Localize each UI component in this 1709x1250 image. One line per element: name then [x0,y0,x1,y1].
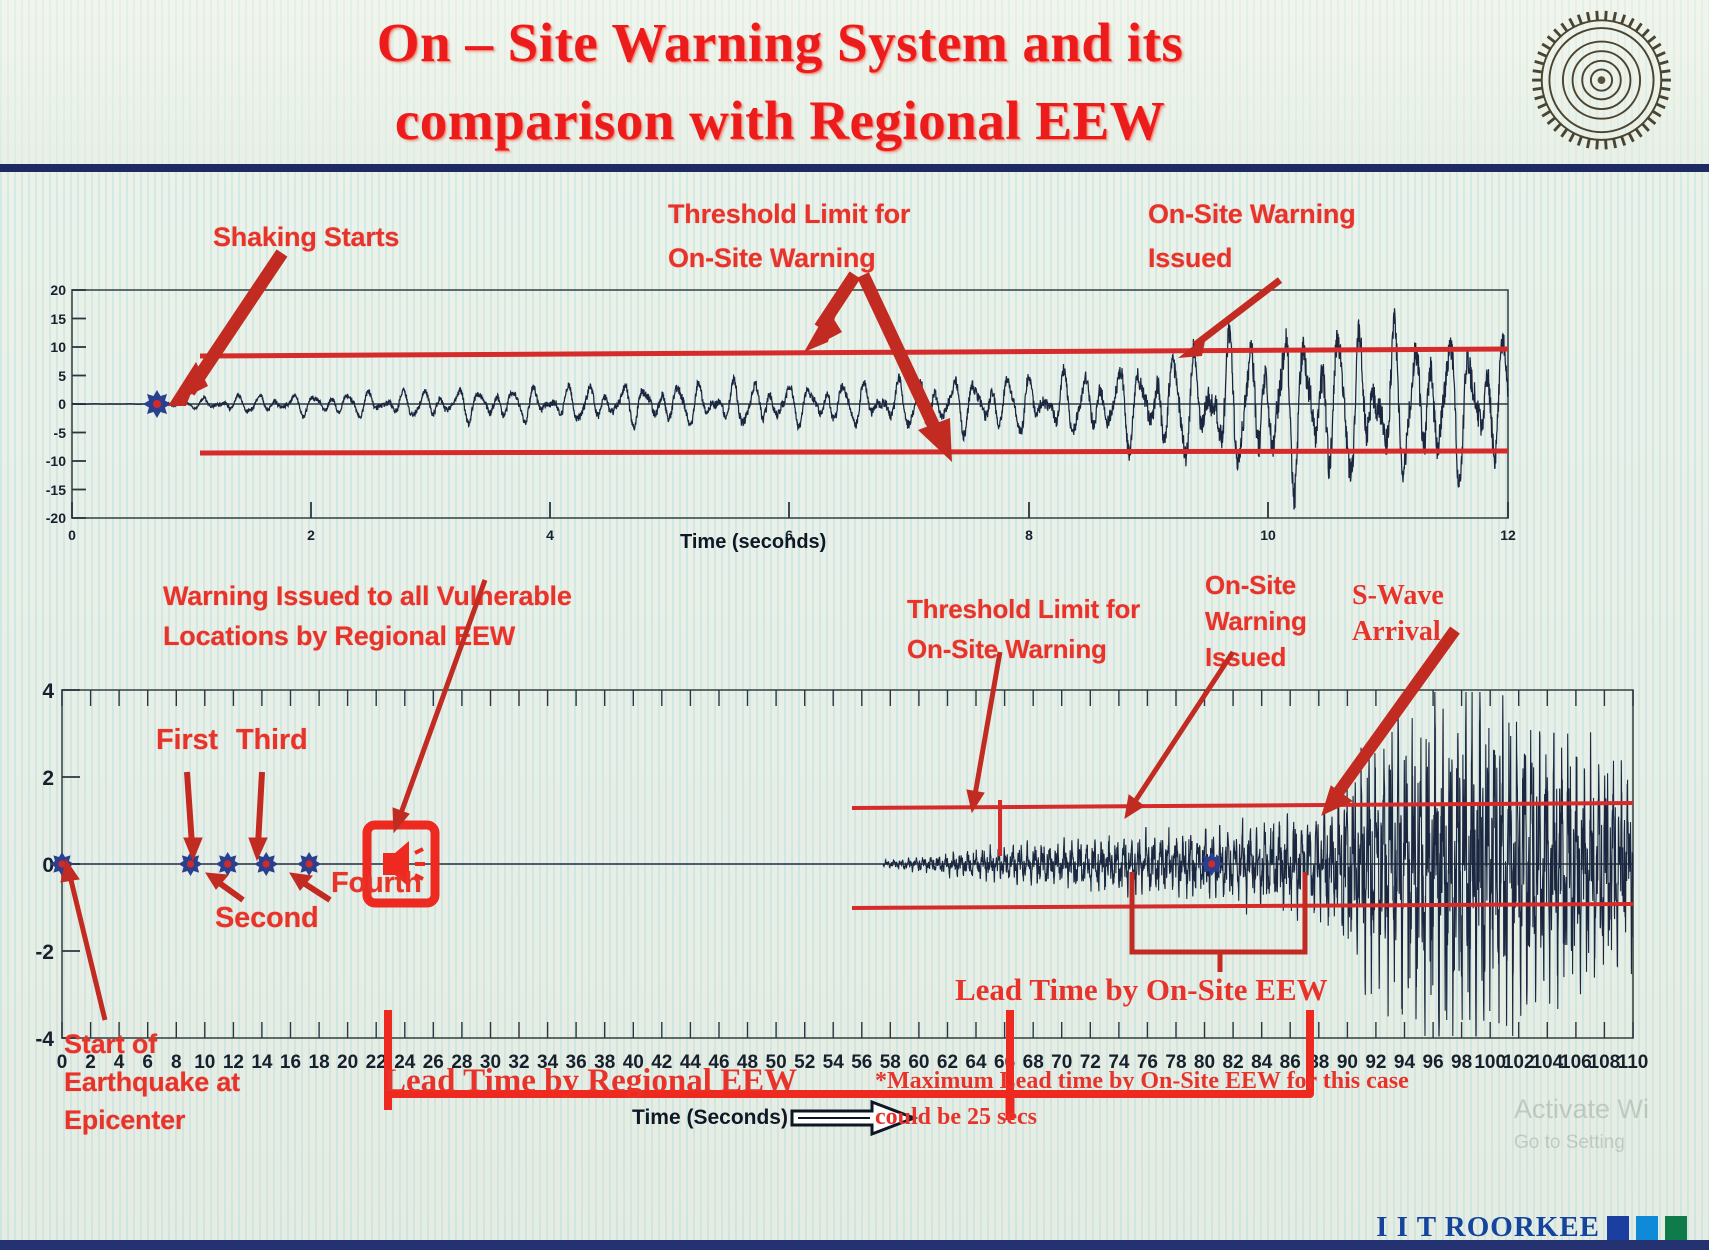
chart2-fourth-arrow [290,873,330,900]
chart2-xtick: 18 [309,1052,330,1073]
chart1-ytick: 5 [58,368,66,384]
page-title-line2: comparison with Regional EEW [170,82,1390,160]
chart2-ytick: 2 [42,767,54,790]
chart2-ytick: -4 [35,1028,54,1051]
chart2-fourth-station-marker [297,852,321,876]
chart2-onsite-trigger-marker [1200,852,1224,876]
chart1-acceleration-trace [72,308,1508,509]
chart1-xtick: 0 [68,527,76,543]
chart2-third-label: Third [236,725,308,755]
chart1-xtick: 2 [307,527,315,543]
slide-canvas: On – Site Warning System and its compari… [0,0,1709,1250]
chart2-xtick: 20 [337,1052,358,1073]
chart2-first-station-marker [179,852,203,876]
chart1-xtick: 10 [1260,527,1276,543]
chart1-xtick: 8 [1025,527,1033,543]
windows-activation-watermark: Activate Wi Go to Setting [1514,1092,1649,1160]
chart2-xtick: 108 [1589,1052,1621,1073]
chart2-lead-time-onsite-label: Lead Time by On-Site EEW [955,972,1328,1007]
chart1-lower-threshold [200,451,1508,453]
chart2-lead-time-regional-label: Lead Time by Regional EEW [384,1063,797,1100]
chart1-shaking-starts-arrow [168,253,282,406]
chart2-xtick: 96 [1423,1052,1444,1073]
chart1-ytick: -10 [46,453,66,469]
chart1-xticks [72,502,1508,518]
chart2-regional-warning-label: Warning Issued to all Vulnerable Locatio… [163,576,572,656]
chart1-threshold-limit-arrow [804,275,855,352]
chart2-threshold-limit-arrow [967,652,1000,812]
chart2-fourth-label: Fourth [331,868,422,898]
chart1-ytick: -5 [54,425,67,441]
chart1-ytick: 20 [50,282,66,298]
chart2-onsite-warning-arrow [1125,652,1233,818]
chart2-first-arrow [184,772,202,860]
chart1-ytick: 0 [58,396,66,412]
chart1-ytick: 15 [50,311,66,327]
chart2-lead-time-onsite-bracket [1132,872,1305,972]
chart1-shaking-start-marker [143,390,171,418]
chart1-ytick: 10 [50,339,66,355]
chart2-threshold-limit-label: Threshold Limit for On-Site Warning [907,589,1140,669]
brand-square-2 [1636,1216,1658,1240]
chart2-second-arrow [206,873,243,900]
chart2-epicenter-arrow [61,860,105,1020]
chart1-xtick: 12 [1500,527,1516,543]
iit-roorkee-seal-icon [1534,8,1669,158]
chart1-ytick: -20 [46,510,66,526]
chart2-xtick: 14 [251,1052,273,1073]
chart2-ytick: 4 [42,680,54,703]
bottom-strip [0,1240,1709,1250]
chart2-xtick: 16 [280,1052,301,1073]
chart2-xtick: 102 [1503,1052,1535,1073]
chart2-second-station-marker [216,852,240,876]
chart-onsite-record: 20 15 10 5 0 -5 -10 -15 -20 0 2 4 6 [0,180,1560,560]
watermark-line2: Go to Setting [1514,1126,1649,1160]
page-title: On – Site Warning System and its compari… [170,4,1390,160]
chart2-onsite-warning-label: On-Site Warning Issued [1205,567,1307,675]
chart2-first-label: First [156,725,218,755]
brand-square-1 [1607,1216,1629,1240]
brand-square-3 [1665,1216,1687,1240]
chart2-second-label: Second [215,903,319,933]
chart2-xtick: 106 [1560,1052,1592,1073]
chart2-ytick: 0 [42,854,54,877]
chart2-footnote: *Maximum Lead time by On-Site EEW for th… [875,1063,1409,1135]
chart1-upper-threshold [200,349,1508,356]
chart1-ytick: -15 [46,482,66,498]
chart2-xtick: 98 [1451,1052,1472,1073]
chart1-warning-issued-arrow [1178,280,1280,358]
chart1-x-title: Time (seconds) [680,531,826,554]
title-banner: On – Site Warning System and its compari… [0,0,1709,172]
chart2-xtick: 110 [1618,1052,1649,1073]
chart2-ytick: -2 [35,941,54,964]
chart1-threshold-limit-arrow2 [863,275,952,462]
chart2-s-wave-label: S-Wave Arrival [1352,578,1444,650]
chart2-xtick: 100 [1474,1052,1506,1073]
chart2-epicenter-label: Start of Earthquake at Epicenter [64,1025,240,1139]
page-title-line1: On – Site Warning System and its [170,4,1390,82]
chart2-xtick: 104 [1531,1052,1563,1073]
chart1-xtick: 4 [546,527,554,543]
chart2-third-arrow [249,772,267,860]
